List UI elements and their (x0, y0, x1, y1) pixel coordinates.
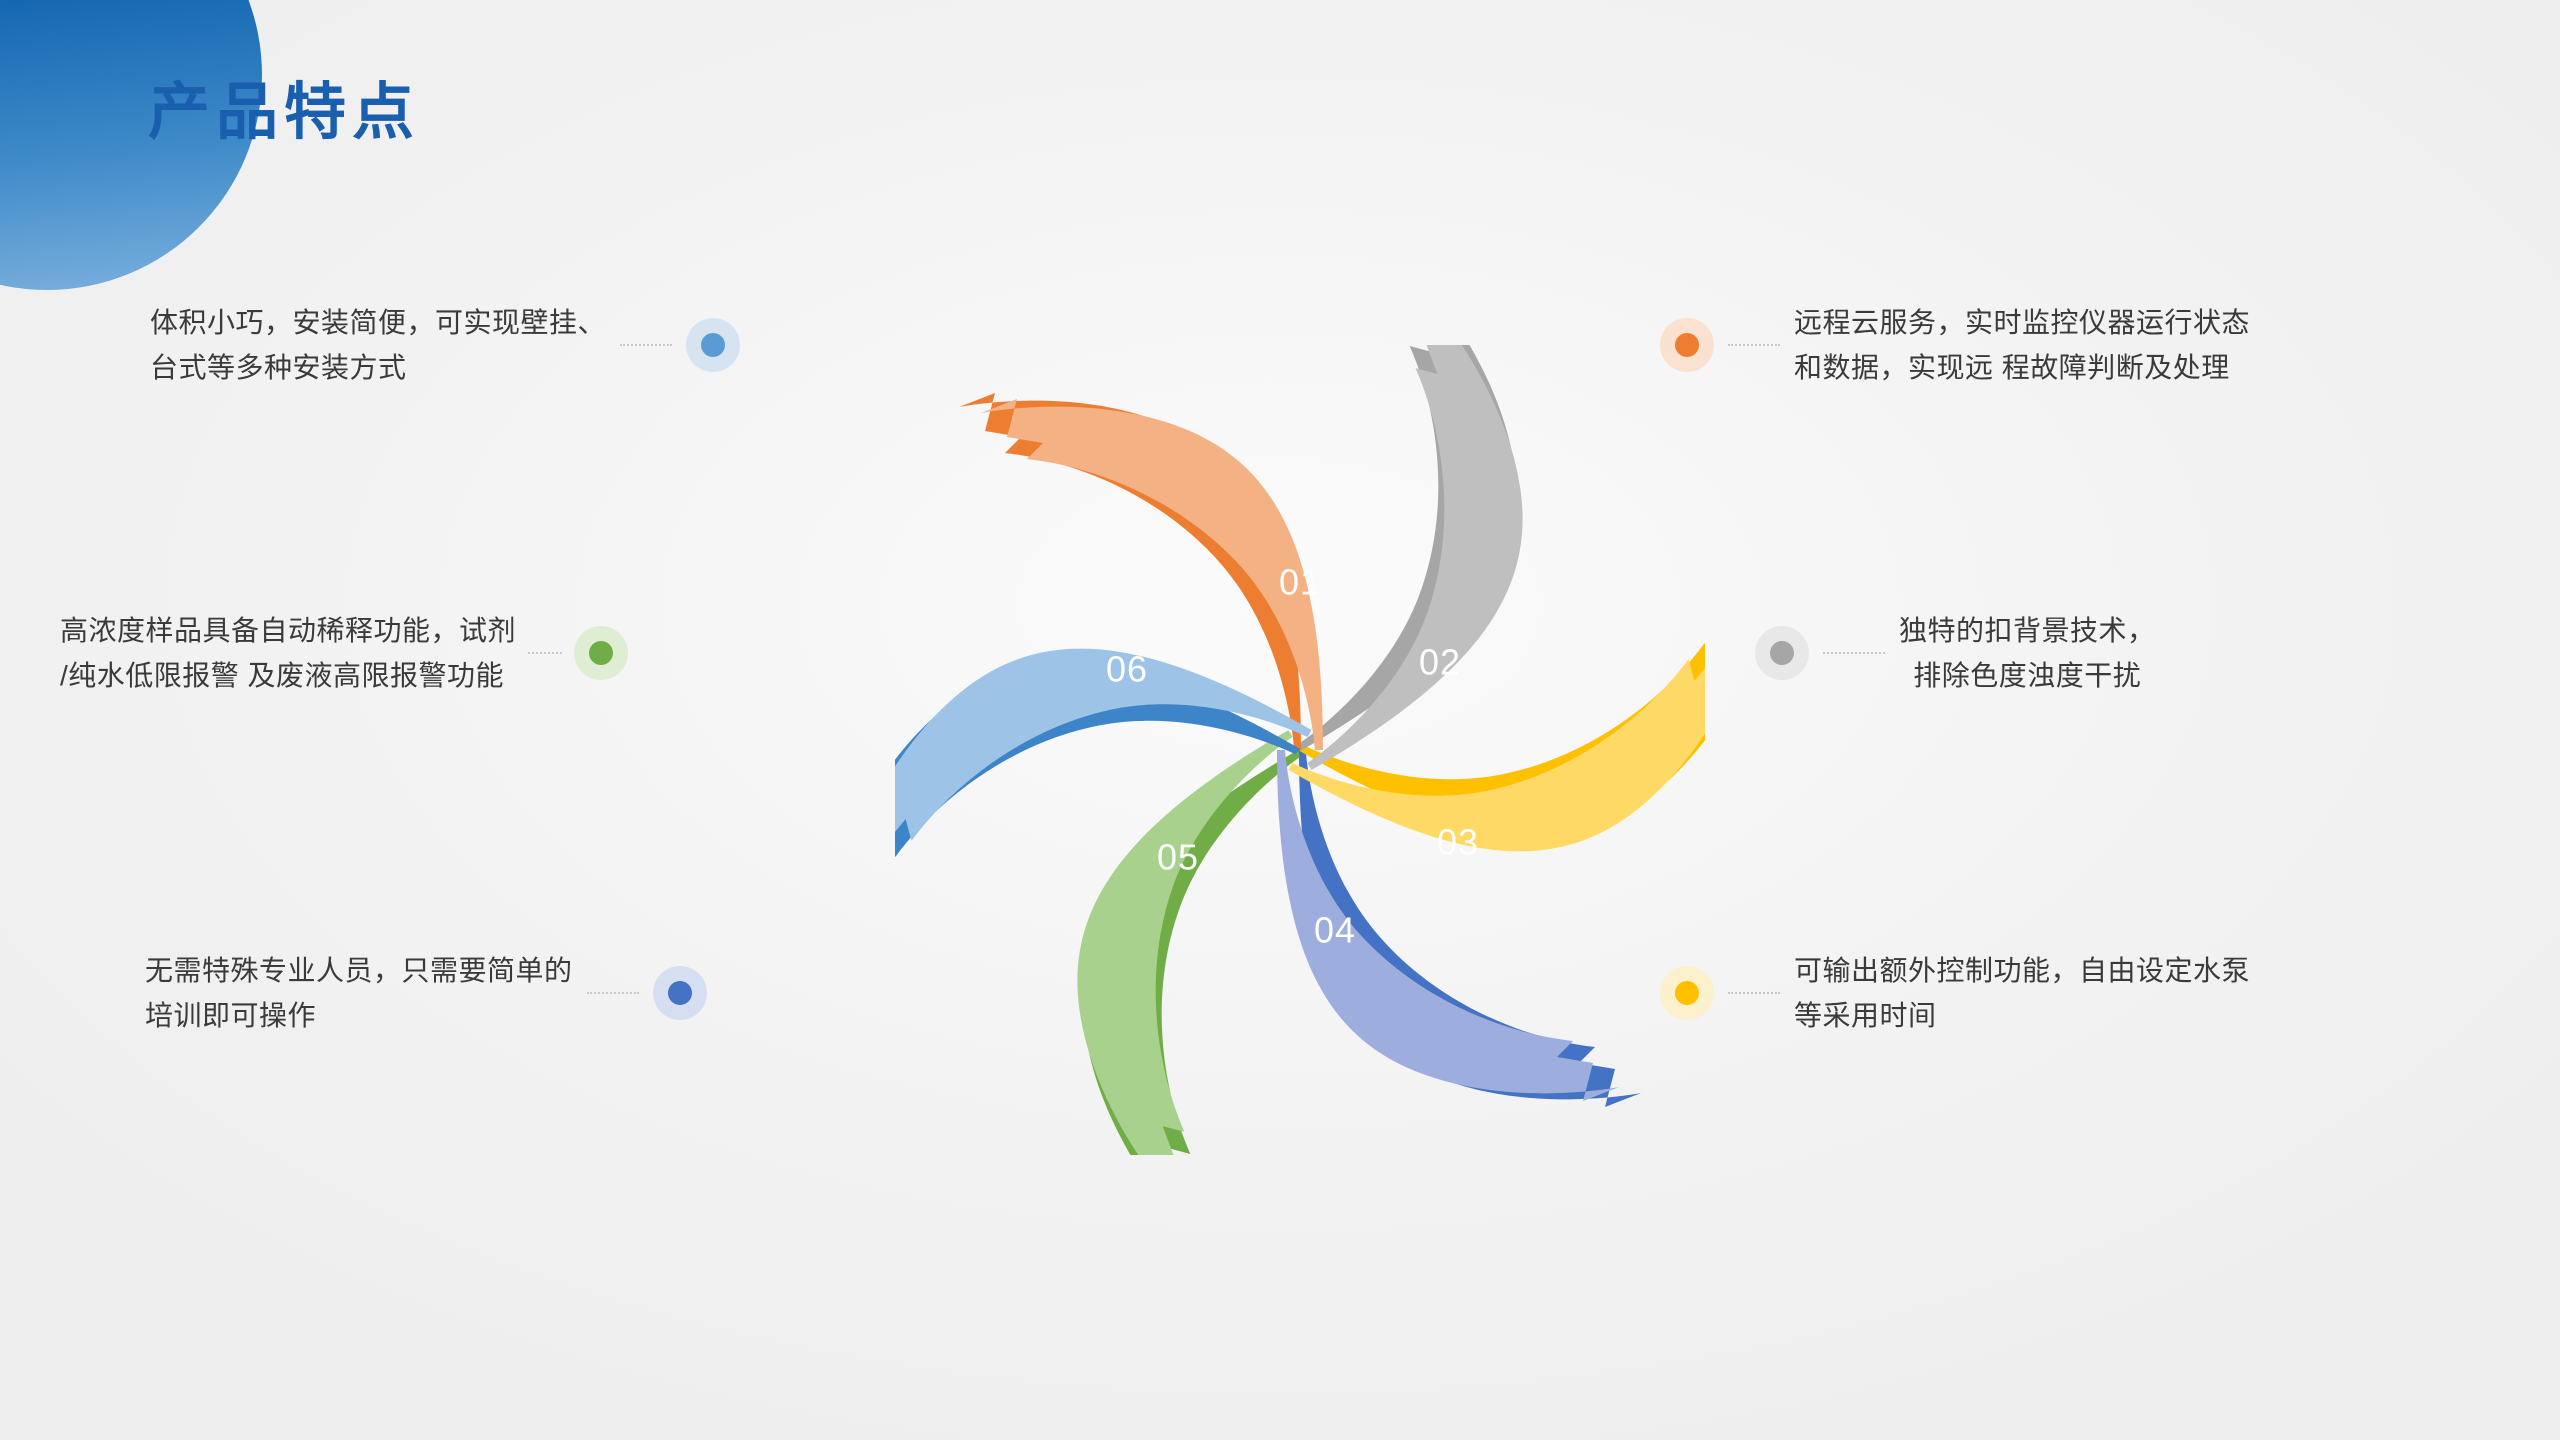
callout-06[interactable]: 高浓度样品具备自动稀释功能，试剂/纯水低限报警 及废液高限报警功能 (60, 608, 628, 699)
callout-02-connector (1728, 344, 1780, 346)
slide-canvas: 产品特点 (0, 0, 2560, 1440)
callout-01-marker[interactable] (686, 318, 740, 372)
segment-label-01: 01 (1279, 562, 1321, 603)
callout-06-marker[interactable] (574, 626, 628, 680)
callout-03-dot-icon (1770, 641, 1794, 665)
segment-label-03: 03 (1437, 822, 1479, 863)
callout-05-dot-icon (668, 981, 692, 1005)
callout-01-text: 体积小巧，安装简便，可实现壁挂、台式等多种安装方式 (150, 300, 606, 391)
callout-03-marker[interactable] (1755, 626, 1809, 680)
callout-06-connector (528, 652, 562, 654)
segment-label-02: 02 (1419, 642, 1461, 683)
callout-01-dot-icon (701, 333, 725, 357)
callout-01-connector (620, 344, 672, 346)
page-title: 产品特点 (148, 82, 420, 144)
callout-01[interactable]: 体积小巧，安装简便，可实现壁挂、台式等多种安装方式 (150, 300, 740, 391)
callout-05[interactable]: 无需特殊专业人员，只需要简单的培训即可操作 (145, 948, 707, 1039)
callout-02-text: 远程云服务，实时监控仪器运行状态和数据，实现远 程故障判断及处理 (1794, 300, 2250, 391)
callout-04-dot-icon (1675, 981, 1699, 1005)
callout-02[interactable]: 远程云服务，实时监控仪器运行状态和数据，实现远 程故障判断及处理 (1660, 300, 2250, 391)
callout-02-marker[interactable] (1660, 318, 1714, 372)
callout-03[interactable]: 独特的扣背景技术，排除色度浊度干扰 (1755, 608, 2156, 699)
segment-label-04: 04 (1314, 910, 1356, 951)
callout-04-connector (1728, 992, 1780, 994)
callout-06-text: 高浓度样品具备自动稀释功能，试剂/纯水低限报警 及废液高限报警功能 (60, 608, 516, 699)
callout-05-text: 无需特殊专业人员，只需要简单的培训即可操作 (145, 948, 573, 1039)
callout-06-dot-icon (589, 641, 613, 665)
segment-label-05: 05 (1157, 837, 1199, 878)
callout-05-connector (587, 992, 639, 994)
callout-04[interactable]: 可输出额外控制功能，自由设定水泵等采用时间 (1660, 948, 2250, 1039)
segment-label-06: 06 (1106, 649, 1148, 690)
callout-03-connector (1823, 652, 1885, 654)
pinwheel-diagram: 01 02 03 04 05 06 (895, 345, 1705, 1155)
callout-03-text: 独特的扣背景技术，排除色度浊度干扰 (1899, 608, 2156, 699)
callout-05-marker[interactable] (653, 966, 707, 1020)
callout-04-marker[interactable] (1660, 966, 1714, 1020)
callout-04-text: 可输出额外控制功能，自由设定水泵等采用时间 (1794, 948, 2250, 1039)
callout-02-dot-icon (1675, 333, 1699, 357)
